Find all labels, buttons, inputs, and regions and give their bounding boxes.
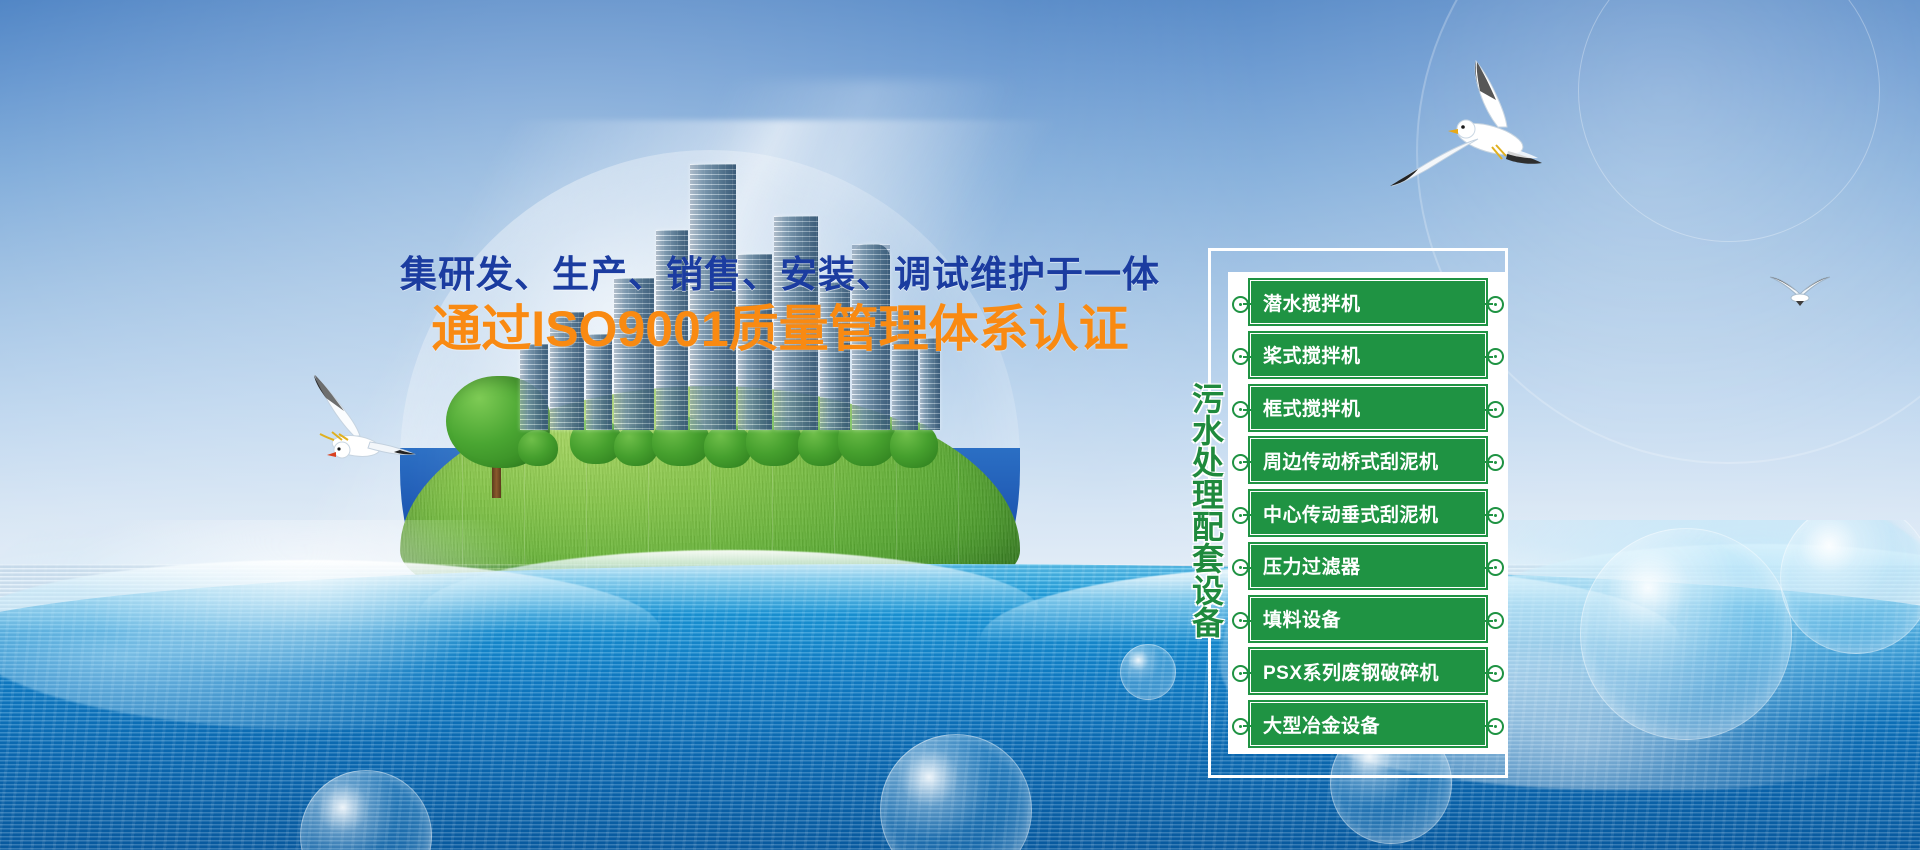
product-item-label: 潜水搅拌机 — [1251, 289, 1361, 316]
plaque-knob-right-icon — [1487, 559, 1504, 576]
plaque-knob-right-icon — [1487, 718, 1504, 735]
headline-line-2: 通过ISO9001质量管理体系认证 — [380, 300, 1180, 359]
seagull-left-icon — [296, 372, 426, 482]
product-item-label: 中心传动垂式刮泥机 — [1251, 500, 1439, 527]
product-item-3[interactable]: 周边传动桥式刮泥机 — [1250, 438, 1486, 482]
product-item-1[interactable]: 桨式搅拌机 — [1250, 333, 1486, 377]
bubble-icon — [1580, 528, 1792, 740]
product-item-6[interactable]: 填料设备 — [1250, 597, 1486, 641]
product-item-label: PSX系列废钢破碎机 — [1251, 658, 1439, 685]
product-item-8[interactable]: 大型冶金设备 — [1250, 702, 1486, 746]
seagull-small-far-right-icon — [1760, 270, 1840, 323]
plaque-knob-right-icon — [1487, 507, 1504, 524]
tree-icon — [518, 430, 558, 466]
headline-line-1: 集研发、生产、销售、安装、调试维护于一体 — [380, 252, 1180, 298]
plaque-knob-right-icon — [1487, 401, 1504, 418]
plaque-knob-left-icon — [1232, 507, 1249, 524]
plaque-knob-left-icon — [1232, 454, 1249, 471]
plaque-knob-right-icon — [1487, 612, 1504, 629]
plaque-knob-right-icon — [1487, 665, 1504, 682]
product-item-0[interactable]: 潜水搅拌机 — [1250, 280, 1486, 324]
product-panel-list: 潜水搅拌机 桨式搅拌机 框式搅拌机 周边传动桥式刮泥机 中心传动垂式刮泥机 压力… — [1228, 272, 1508, 754]
product-item-2[interactable]: 框式搅拌机 — [1250, 386, 1486, 430]
plaque-knob-left-icon — [1232, 665, 1249, 682]
product-item-label: 框式搅拌机 — [1251, 394, 1361, 421]
product-item-label: 压力过滤器 — [1251, 552, 1361, 579]
bubble-icon — [1120, 644, 1176, 700]
product-item-4[interactable]: 中心传动垂式刮泥机 — [1250, 491, 1486, 535]
banner-root: 集研发、生产、销售、安装、调试维护于一体 通过ISO9001质量管理体系认证 污… — [0, 0, 1920, 850]
water-wave-icon — [0, 520, 1920, 850]
plaque-knob-left-icon — [1232, 296, 1249, 313]
product-item-7[interactable]: PSX系列废钢破碎机 — [1250, 649, 1486, 693]
product-item-label: 周边传动桥式刮泥机 — [1251, 447, 1439, 474]
product-item-label: 大型冶金设备 — [1251, 711, 1380, 738]
plaque-knob-left-icon — [1232, 612, 1249, 629]
water-splash-left — [0, 520, 600, 730]
product-panel-vertical-label: 污水处理配套设备 — [1178, 382, 1222, 638]
plaque-knob-left-icon — [1232, 348, 1249, 365]
plaque-knob-left-icon — [1232, 718, 1249, 735]
tree-icon — [704, 424, 752, 468]
headline-block: 集研发、生产、销售、安装、调试维护于一体 通过ISO9001质量管理体系认证 — [380, 252, 1180, 359]
product-item-5[interactable]: 压力过滤器 — [1250, 544, 1486, 588]
plaque-knob-left-icon — [1232, 401, 1249, 418]
product-item-label: 填料设备 — [1251, 605, 1341, 632]
decorative-ring-inner — [1578, 0, 1880, 242]
plaque-knob-right-icon — [1487, 348, 1504, 365]
plaque-knob-right-icon — [1487, 454, 1504, 471]
plaque-knob-left-icon — [1232, 559, 1249, 576]
plaque-knob-right-icon — [1487, 296, 1504, 313]
seagull-large-right-icon — [1380, 55, 1580, 210]
product-item-label: 桨式搅拌机 — [1251, 341, 1361, 368]
